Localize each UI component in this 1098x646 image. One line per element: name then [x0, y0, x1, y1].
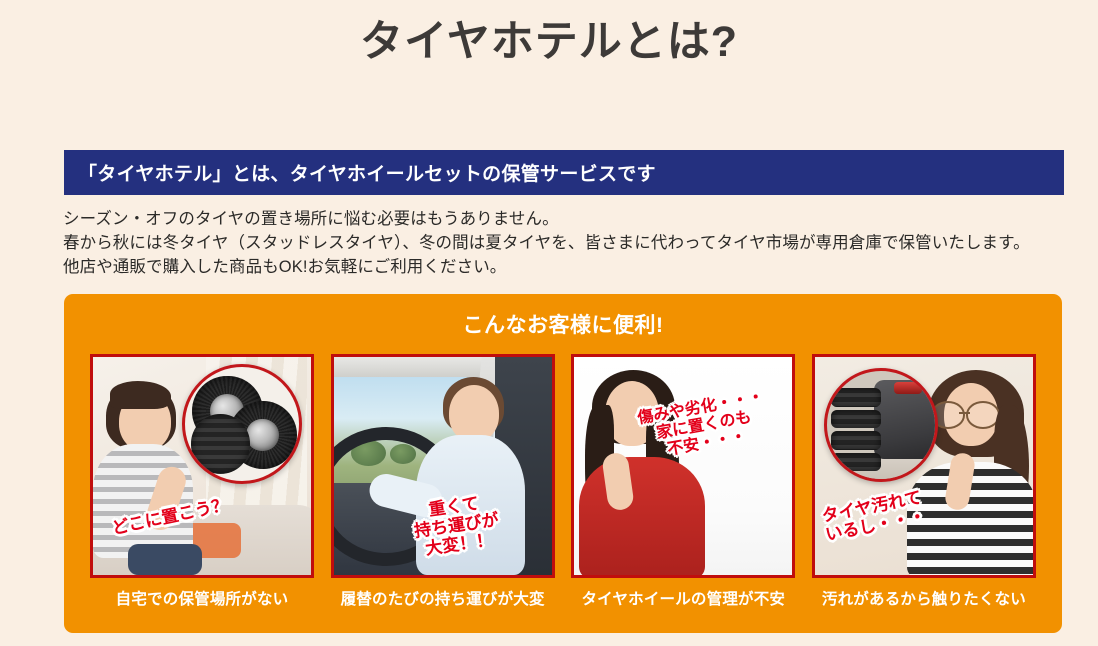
benefit-callout-carrying: 重くて 持ち運びが 大変！！ — [410, 491, 502, 559]
person-fringe — [110, 381, 171, 409]
benefit-card-home-storage[interactable]: どこに置こう？ 自宅での保管場所がない — [90, 354, 314, 609]
benefit-photo-dirt: タイヤ汚れて いるし・・・ — [812, 354, 1036, 578]
tire-stack-row — [831, 431, 881, 449]
person-torso — [579, 457, 705, 578]
tire-stack-row — [831, 453, 881, 471]
banner-text: 「タイヤホテル」とは、タイヤホイールセットの保管サービスです — [64, 159, 656, 186]
benefit-photo-management: 傷みや劣化・・・ 家に置くのも 不安・・・ — [571, 354, 795, 578]
benefits-heading: こんなお客様に便利! — [64, 294, 1062, 339]
benefit-caption-home-storage: 自宅での保管場所がない — [90, 587, 314, 609]
benefits-panel: こんなお客様に便利! — [64, 294, 1062, 633]
section-banner: 「タイヤホテル」とは、タイヤホイールセットの保管サービスです — [64, 150, 1064, 195]
page-title: タイヤホテルとは? — [0, 0, 1098, 69]
benefit-card-management[interactable]: 傷みや劣化・・・ 家に置くのも 不安・・・ タイヤホイールの管理が不安 — [571, 354, 795, 609]
tire-stack-row — [831, 388, 881, 406]
lead-paragraph: シーズン・オフのタイヤの置き場所に悩む必要はもうありません。 春から秋には冬タイ… — [63, 207, 1030, 279]
person-head — [449, 385, 499, 442]
benefit-photo-home-storage: どこに置こう？ — [90, 354, 314, 578]
stacked-tires-circle-icon — [182, 364, 302, 484]
person-jeans — [128, 544, 202, 575]
lead-line-3: 他店や通販で購入した商品もOK!お気軽にご利用ください。 — [63, 255, 1030, 279]
benefit-card-dirt[interactable]: タイヤ汚れて いるし・・・ 汚れがあるから触りたくない — [812, 354, 1036, 609]
benefit-photo-carrying: 重くて 持ち運びが 大変！！ — [331, 354, 555, 578]
glasses-bridge — [959, 412, 970, 415]
tire-stack — [191, 414, 250, 473]
benefit-caption-carrying: 履替のたびの持ち運びが大変 — [331, 587, 555, 609]
benefit-card-carrying[interactable]: 重くて 持ち運びが 大変！！ 履替のたびの持ち運びが大変 — [331, 354, 555, 609]
lead-line-1: シーズン・オフのタイヤの置き場所に悩む必要はもうありません。 — [63, 207, 1030, 231]
tire-stack-row — [831, 410, 881, 428]
benefit-caption-management: タイヤホイールの管理が不安 — [571, 587, 795, 609]
benefits-card-row: どこに置こう？ 自宅での保管場所がない — [64, 339, 1062, 609]
scene-background — [93, 357, 311, 575]
scene-background — [815, 357, 1033, 575]
tail-light — [894, 382, 922, 394]
benefit-caption-dirt: 汚れがあるから触りたくない — [812, 587, 1036, 609]
lead-line-2: 春から秋には冬タイヤ（スタッドレスタイヤ）、冬の間は夏タイヤを、皆さまに代わって… — [63, 231, 1030, 255]
garage-tire-stack-circle-icon — [824, 368, 938, 482]
